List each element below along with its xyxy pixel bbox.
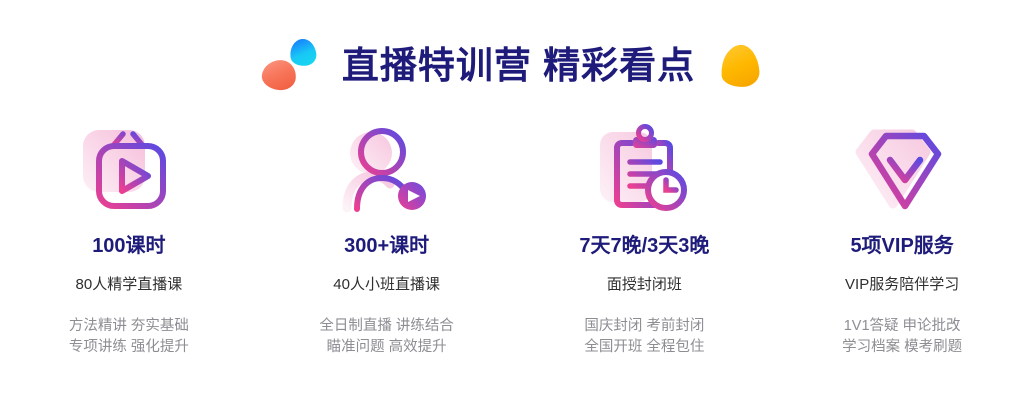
tv-play-icon bbox=[77, 124, 181, 216]
feature-detail: 瞄准问题 高效提升 bbox=[327, 337, 447, 358]
feature-detail: 方法精讲 夯实基础 bbox=[69, 316, 189, 337]
page-header: 直播特训营 精彩看点 bbox=[0, 34, 1031, 96]
feature-subtitle: 40人小班直播课 bbox=[333, 277, 440, 292]
header-decoration-left bbox=[262, 36, 320, 94]
user-play-icon bbox=[335, 124, 439, 216]
feature-detail: 全日制直播 讲练结合 bbox=[319, 316, 454, 337]
page-title: 直播特训营 精彩看点 bbox=[320, 47, 717, 84]
feature-item[interactable]: 5项VIP服务 VIP服务陪伴学习 1V1答疑 申论批改 学习档案 模考刷题 bbox=[773, 124, 1031, 358]
orange-blob-icon bbox=[260, 58, 297, 91]
feature-detail: 国庆封闭 考前封闭 bbox=[584, 316, 704, 337]
clipboard-clock-icon bbox=[592, 124, 696, 216]
feature-headline: 300+课时 bbox=[344, 236, 429, 256]
yellow-blob-icon bbox=[720, 44, 761, 89]
header-decoration-right bbox=[717, 36, 769, 94]
feature-subtitle: VIP服务陪伴学习 bbox=[845, 277, 959, 292]
feature-list: 100课时 80人精学直播课 方法精讲 夯实基础 专项讲练 强化提升 bbox=[0, 124, 1031, 358]
feature-detail: 学习档案 模考刷题 bbox=[842, 337, 962, 358]
feature-subtitle: 80人精学直播课 bbox=[76, 277, 183, 292]
diamond-check-icon bbox=[850, 124, 954, 216]
feature-headline: 7天7晚/3天3晚 bbox=[579, 236, 709, 256]
feature-detail: 专项讲练 强化提升 bbox=[69, 337, 189, 358]
feature-detail: 全国开班 全程包住 bbox=[584, 337, 704, 358]
blue-blob-icon bbox=[288, 37, 318, 67]
feature-headline: 100课时 bbox=[92, 236, 165, 256]
feature-item[interactable]: 300+课时 40人小班直播课 全日制直播 讲练结合 瞄准问题 高效提升 bbox=[258, 124, 516, 358]
feature-detail: 1V1答疑 申论批改 bbox=[844, 316, 961, 337]
feature-item[interactable]: 100课时 80人精学直播课 方法精讲 夯实基础 专项讲练 强化提升 bbox=[0, 124, 258, 358]
feature-subtitle: 面授封闭班 bbox=[607, 277, 682, 292]
feature-headline: 5项VIP服务 bbox=[850, 236, 953, 256]
feature-item[interactable]: 7天7晚/3天3晚 面授封闭班 国庆封闭 考前封闭 全国开班 全程包住 bbox=[516, 124, 774, 358]
